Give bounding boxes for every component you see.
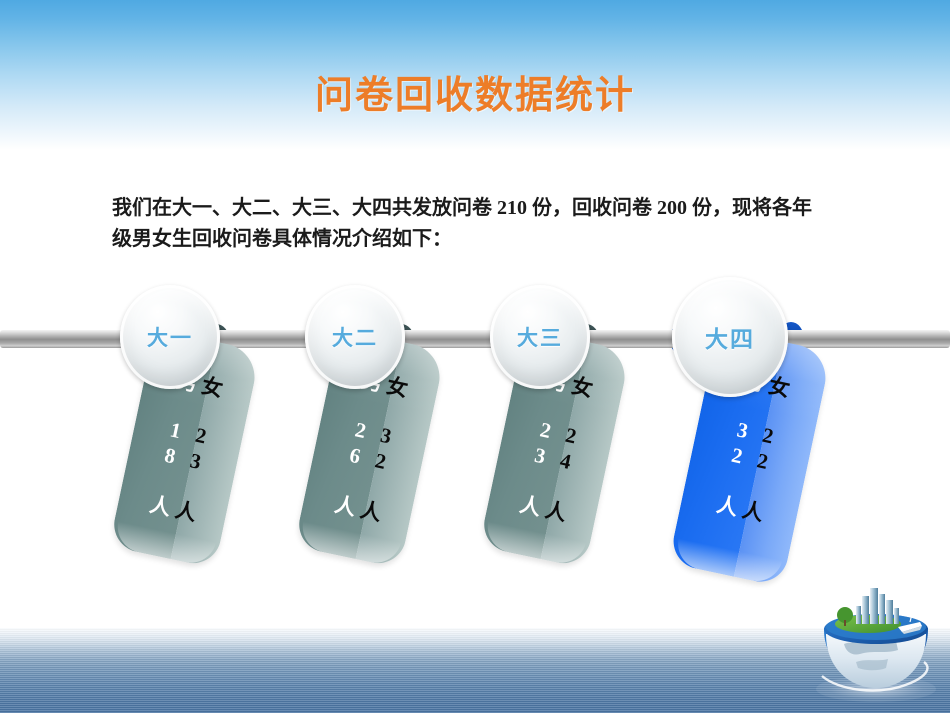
- badge-label-4: 大四: [705, 320, 755, 354]
- badge-circle-1[interactable]: 大一: [120, 285, 220, 389]
- slide-canvas: 问卷回收数据统计 我们在大一、大二、大三、大四共发放问卷 210 份，回收问卷 …: [0, 0, 950, 713]
- badge-circle-4[interactable]: 大四: [672, 277, 788, 397]
- globe-icon: [812, 584, 940, 696]
- badge-label-2: 大二: [332, 322, 378, 352]
- badge-label-1: 大一: [147, 322, 193, 352]
- badge-label-3: 大三: [517, 322, 563, 352]
- page-title: 问卷回收数据统计: [0, 72, 950, 120]
- badge-circle-3[interactable]: 大三: [490, 285, 590, 389]
- badge-circle-2[interactable]: 大二: [305, 285, 405, 389]
- ocean-band: [0, 628, 950, 713]
- intro-paragraph: 我们在大一、大二、大三、大四共发放问卷 210 份，回收问卷 200 份，现将各…: [112, 193, 818, 255]
